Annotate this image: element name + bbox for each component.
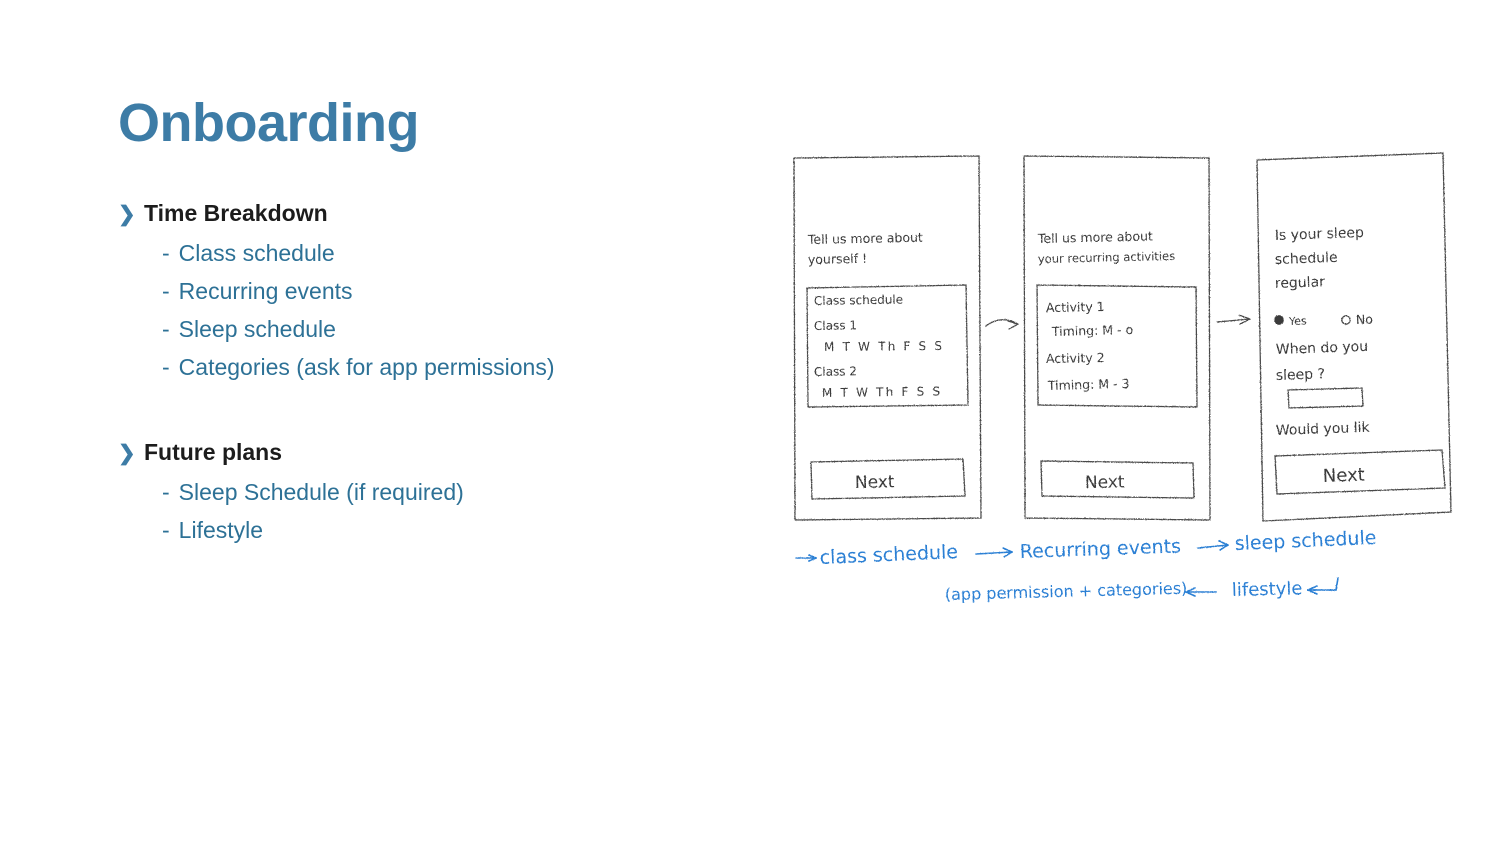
next-button-label-2: Next bbox=[1085, 472, 1125, 493]
sleep-question-line-1: Is your sleep bbox=[1275, 225, 1365, 244]
radio-yes-label: Yes bbox=[1288, 315, 1307, 328]
dash-icon: - bbox=[162, 350, 170, 386]
list-item[interactable]: - Sleep schedule bbox=[162, 311, 738, 348]
dash-icon: - bbox=[162, 475, 170, 511]
card-title-1: Class schedule bbox=[814, 292, 903, 308]
would-you-like-text: Would you lik bbox=[1276, 420, 1371, 439]
list-item-label: Lifestyle bbox=[179, 512, 263, 549]
outline-heading-future-plans[interactable]: ❯ Future plans bbox=[118, 437, 738, 468]
chevron-right-icon: ❯ bbox=[118, 443, 134, 464]
outline-heading-time-breakdown[interactable]: ❯ Time Breakdown bbox=[118, 198, 738, 229]
class-1-label: Class 1 bbox=[814, 318, 857, 333]
flow-arrow-1-icon bbox=[976, 552, 1012, 554]
dash-icon: - bbox=[162, 236, 170, 272]
prompt-line-2: your recurring activities bbox=[1038, 249, 1176, 266]
wireframe-sketch: Tell us more about yourself ! Class sche… bbox=[780, 140, 1480, 620]
list-item[interactable]: - Class schedule bbox=[162, 235, 738, 272]
arrow-right-icon-2 bbox=[1217, 315, 1250, 324]
prompt-line-1: Tell us more about bbox=[1037, 228, 1153, 246]
slide-canvas: Onboarding ❯ Time Breakdown - Class sche… bbox=[0, 0, 1500, 844]
outline-heading-label: Time Breakdown bbox=[144, 198, 328, 229]
list-item[interactable]: - Sleep Schedule (if required) bbox=[162, 474, 738, 511]
sleep-time-question-line-2: sleep ? bbox=[1276, 366, 1326, 384]
activity-2-label: Activity 2 bbox=[1046, 350, 1105, 366]
radio-no-label: No bbox=[1356, 312, 1373, 327]
dash-icon: - bbox=[162, 312, 170, 348]
list-item-label: Sleep schedule bbox=[179, 311, 336, 348]
outline-group-time-breakdown: ❯ Time Breakdown - Class schedule - Recu… bbox=[118, 198, 738, 387]
wireframe-handwriting: Tell us more about yourself ! Class sche… bbox=[807, 225, 1373, 493]
flow-step-2: Recurring events bbox=[1019, 535, 1181, 563]
prompt-line-1: Tell us more about bbox=[807, 230, 923, 247]
class-1-days: M T W Th F S S bbox=[824, 339, 944, 354]
prompt-line-2: yourself ! bbox=[808, 251, 867, 267]
dash-icon: - bbox=[162, 274, 170, 310]
flow-note-annotation: class schedule Recurring events sleep sc… bbox=[796, 527, 1377, 604]
next-button-label-1: Next bbox=[855, 472, 895, 493]
page-title: Onboarding bbox=[118, 95, 738, 152]
outline-heading-label: Future plans bbox=[144, 437, 282, 468]
class-2-days: M T W Th F S S bbox=[822, 384, 942, 400]
outline-group-future-plans: ❯ Future plans - Sleep Schedule (if requ… bbox=[118, 437, 738, 550]
flow-step-3: sleep schedule bbox=[1234, 527, 1377, 555]
arrow-right-icon-1 bbox=[986, 320, 1018, 329]
flow-step-1: class schedule bbox=[819, 541, 958, 569]
outline-column: Onboarding ❯ Time Breakdown - Class sche… bbox=[118, 95, 738, 573]
list-item[interactable]: - Lifestyle bbox=[162, 512, 738, 549]
class-2-label: Class 2 bbox=[814, 364, 857, 379]
list-item-label: Recurring events bbox=[179, 273, 353, 310]
radio-no-unselected bbox=[1342, 316, 1350, 324]
sleep-time-question-line-1: When do you bbox=[1276, 339, 1369, 358]
activity-1-timing: Timing: M - o bbox=[1051, 322, 1134, 339]
flow-step-5: lifestyle bbox=[1232, 578, 1303, 601]
flow-step-4: (app permission + categories) bbox=[945, 579, 1188, 604]
sleep-question-line-3: regular bbox=[1275, 274, 1326, 292]
activity-1-label: Activity 1 bbox=[1046, 299, 1105, 315]
radio-yes-selected bbox=[1275, 316, 1283, 324]
list-item[interactable]: - Categories (ask for app permissions) bbox=[162, 349, 738, 386]
list-item-label: Class schedule bbox=[179, 235, 335, 272]
wireframe-frame-1 bbox=[794, 156, 981, 520]
sleep-input-outline bbox=[1288, 388, 1363, 408]
dash-icon: - bbox=[162, 513, 170, 549]
activity-2-timing: Timing: M - 3 bbox=[1047, 376, 1130, 393]
chevron-right-icon: ❯ bbox=[118, 204, 134, 225]
sleep-question-line-2: schedule bbox=[1275, 250, 1338, 268]
next-button-label-3: Next bbox=[1322, 465, 1365, 487]
list-item-label: Sleep Schedule (if required) bbox=[179, 474, 464, 511]
outline-spacer bbox=[118, 411, 738, 437]
list-item[interactable]: - Recurring events bbox=[162, 273, 738, 310]
list-item-label: Categories (ask for app permissions) bbox=[179, 349, 555, 386]
